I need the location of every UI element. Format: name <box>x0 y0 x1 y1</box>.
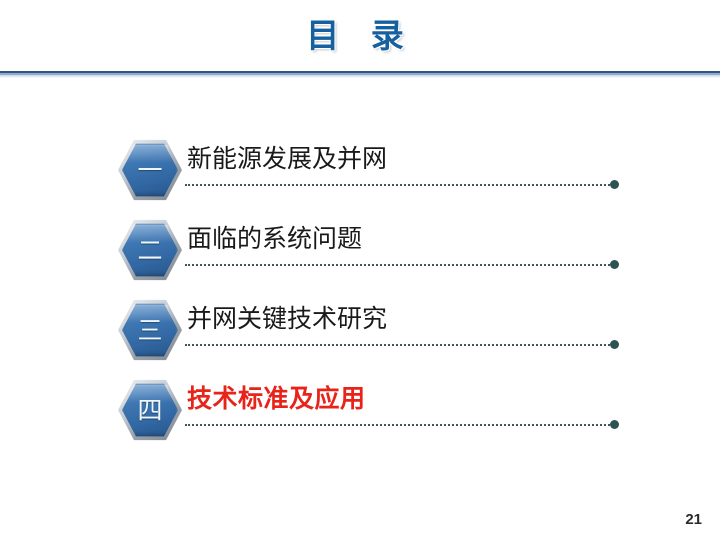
toc-item-numeral: 四 <box>118 378 182 442</box>
hexagon-badge-1: 一 <box>118 138 182 202</box>
toc-item-3[interactable]: 三 并网关键技术研究 <box>0 291 720 371</box>
slide-title-area: 目 录 <box>0 12 720 67</box>
toc-item-4[interactable]: 四 技术标准及应用 <box>0 371 720 451</box>
toc-item-label: 面临的系统问题 <box>187 222 362 256</box>
toc-item-end-dot <box>610 180 619 189</box>
hexagon-badge-4: 四 <box>118 378 182 442</box>
page-title: 目 录 <box>306 12 414 60</box>
toc-item-end-dot <box>610 420 619 429</box>
toc-item-label: 技术标准及应用 <box>187 382 366 416</box>
toc-item-end-dot <box>610 340 619 349</box>
toc-item-leader <box>185 344 613 346</box>
toc-item-1[interactable]: 一 新能源发展及并网 <box>0 131 720 211</box>
hexagon-badge-2: 二 <box>118 218 182 282</box>
toc-item-numeral: 三 <box>118 298 182 362</box>
slide-canvas: 目 录 一 新能源发展及并网 二 面临的系统问题 <box>0 0 720 540</box>
toc-item-leader <box>185 264 613 266</box>
toc-item-leader <box>185 184 613 186</box>
toc-item-label: 新能源发展及并网 <box>187 142 387 176</box>
toc-list: 一 新能源发展及并网 二 面临的系统问题 三 并网关键 <box>0 131 720 451</box>
toc-item-end-dot <box>610 260 619 269</box>
toc-item-numeral: 二 <box>118 218 182 282</box>
page-number: 21 <box>685 511 702 528</box>
toc-item-numeral: 一 <box>118 138 182 202</box>
toc-item-leader <box>185 424 613 426</box>
toc-item-label: 并网关键技术研究 <box>187 302 387 336</box>
hexagon-badge-3: 三 <box>118 298 182 362</box>
title-divider-glow <box>0 75 720 78</box>
toc-item-2[interactable]: 二 面临的系统问题 <box>0 211 720 291</box>
